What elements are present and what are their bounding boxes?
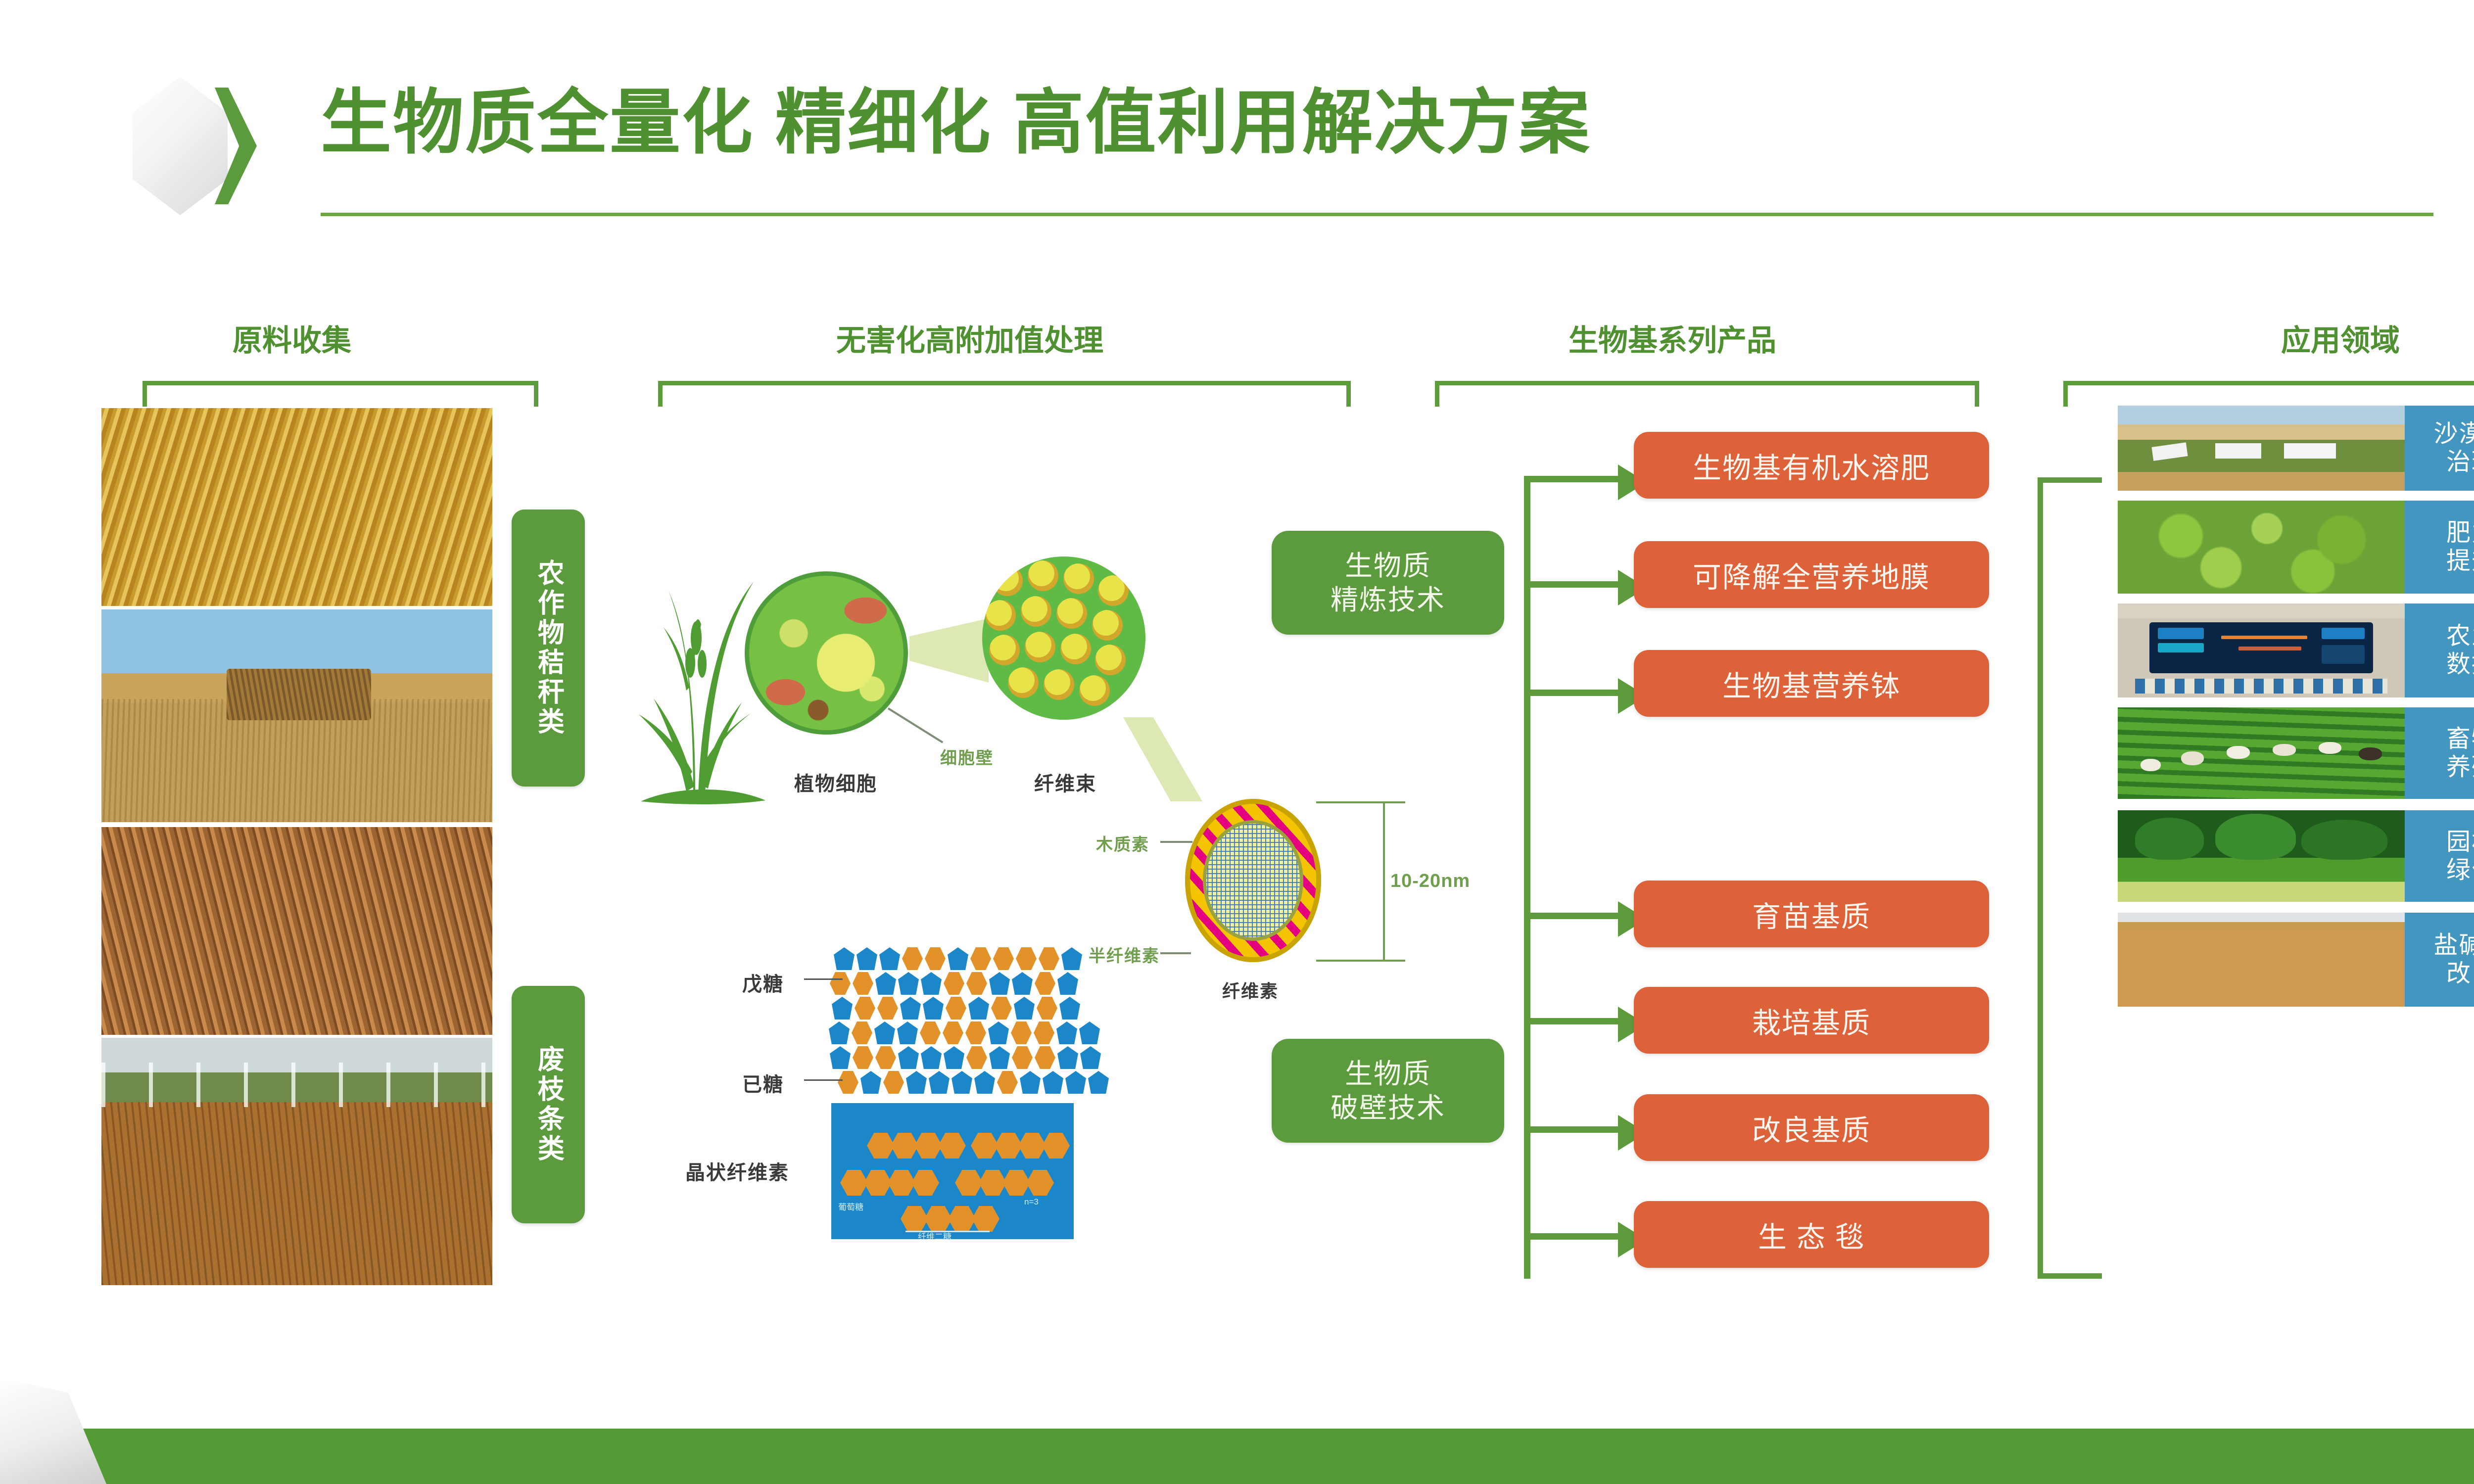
fiber-cross-section-illustration [1185, 799, 1321, 962]
product-label: 可降解全营养地膜 [1693, 554, 1930, 596]
application-label-line2: 数据 [2446, 650, 2474, 679]
label-cellulose: 纤维素 [1222, 977, 1279, 1003]
column-heading-products: 生物基系列产品 [1425, 317, 1920, 360]
label-pentose: 戊糖 [742, 968, 784, 997]
application-label-livestock: 畜牧 养殖 [2405, 707, 2474, 799]
fiber-bundle-illustration [982, 556, 1145, 720]
label-cell-wall: 细胞壁 [940, 744, 994, 769]
orchard-ground-texture [101, 1102, 492, 1285]
application-label-fertility: 肥力 提升 [2405, 501, 2474, 594]
leader-line-cell-wall [888, 707, 943, 743]
product-label: 生物基营养钵 [1722, 663, 1901, 704]
photo-pruned-branches [101, 827, 492, 1035]
zoom-beam-bundle-to-fiber [1123, 717, 1202, 801]
product-pill-seedling-substrate[interactable]: 育苗基质 [1634, 881, 1989, 947]
crystalline-cellulose-panel: 纤维二糖 葡萄糖 n=3 [831, 1103, 1074, 1239]
product-pill-ecological-blanket[interactable]: 生 态 毯 [1634, 1201, 1989, 1268]
photo-sheep-grazing [2118, 707, 2405, 799]
leader-line-lignin [1160, 841, 1192, 843]
application-label-line2: 提升 [2446, 547, 2474, 575]
application-label-line1: 肥力 [2446, 519, 2474, 547]
photo-park-landscaping [2118, 810, 2405, 902]
product-pill-degradable-mulch-film[interactable]: 可降解全营养地膜 [1634, 541, 1989, 608]
orchard-posts [101, 1063, 492, 1107]
dimension-tick-bottom [1316, 960, 1405, 962]
photo-corn-stalk-field [101, 408, 492, 606]
photo-orchard-pruning [101, 1038, 492, 1285]
raw-category-label: 废枝条类 [534, 1045, 563, 1164]
tech-pill-line1: 生物质 [1345, 1057, 1431, 1091]
photo-desertification-control [2118, 406, 2405, 491]
application-label-saline-alkali: 盐碱地 改良 [2405, 913, 2474, 1007]
hay-bale [227, 669, 371, 720]
product-label: 栽培基质 [1752, 1000, 1871, 1041]
photo-cabbage-field [2118, 501, 2405, 594]
application-label-line1: 农业 [2446, 622, 2474, 650]
connector-trunk-refining [1524, 476, 1530, 971]
connector-branch-refining-1 [1524, 476, 1623, 482]
application-label-line1: 盐碱地 [2433, 931, 2474, 960]
raw-category-chip-crop-straw: 农作物秸秆类 [512, 510, 585, 787]
tech-pill-line2: 精炼技术 [1331, 583, 1445, 617]
tech-pill-cell-wall[interactable]: 生物质 破壁技术 [1272, 1039, 1504, 1143]
application-label-line2: 绿化 [2446, 856, 2474, 884]
label-fiber-bundle: 纤维束 [1034, 768, 1096, 796]
connector-branch-refining-3 [1524, 690, 1623, 696]
dimension-tick-top [1316, 801, 1405, 803]
bracket-applications [2063, 381, 2474, 407]
tech-pill-line2: 破壁技术 [1331, 1091, 1445, 1125]
plant-cell-illustration [745, 571, 908, 735]
tech-pill-refining[interactable]: 生物质 精炼技术 [1272, 531, 1504, 635]
product-pill-water-soluble-fertilizer[interactable]: 生物基有机水溶肥 [1634, 432, 1989, 499]
label-crystalline-cellulose: 晶状纤维素 [685, 1157, 789, 1185]
photo-straw-bale-field [101, 609, 492, 822]
bracket-products [1435, 381, 1979, 407]
raw-category-chip-waste-branches: 废枝条类 [512, 986, 585, 1223]
product-pill-nutrient-pot[interactable]: 生物基营养钵 [1634, 650, 1989, 717]
connector-branch-refining-2 [1524, 581, 1623, 588]
hexagon-shape [133, 77, 228, 215]
column-heading-processing: 无害化高附加值处理 [653, 317, 1286, 360]
bracket-raw-material [143, 381, 538, 407]
leader-line-hexose [804, 1079, 843, 1081]
application-label-line1: 沙漠化 [2433, 420, 2474, 448]
dimension-line-vertical [1383, 801, 1385, 962]
application-label-line2: 治理 [2446, 448, 2474, 476]
page-title: 生物质全量化 精细化 高值利用解决方案 [321, 84, 1591, 162]
bracket-left-applications [2038, 477, 2102, 1279]
column-heading-applications: 应用领域 [2142, 317, 2474, 360]
footer-bar [0, 1429, 2474, 1484]
connector-foot-refining [1524, 690, 1530, 696]
sugar-chain-illustration [834, 947, 1200, 1096]
hexagon-chevron-logo [133, 77, 249, 215]
application-label-desertification: 沙漠化 治理 [2405, 406, 2474, 491]
photo-saline-alkali-land [2118, 913, 2405, 1007]
raw-category-label: 农作物秸秆类 [534, 559, 563, 737]
application-label-line1: 畜牧 [2446, 725, 2474, 753]
bracket-processing [658, 381, 1351, 407]
application-label-line1: 园林 [2446, 828, 2474, 856]
photo-agriculture-data-center [2118, 603, 2405, 697]
product-label: 育苗基质 [1752, 893, 1871, 935]
label-lignin: 木质素 [1096, 831, 1149, 855]
column-heading-raw-material: 原料收集 [139, 317, 445, 360]
connector-trunk-cellwall [1524, 913, 1530, 1279]
connector-branch-cellwall-4 [1524, 1233, 1623, 1240]
tech-pill-line1: 生物质 [1345, 549, 1431, 583]
infographic-page: 生物质全量化 精细化 高值利用解决方案 原料收集 无害化高附加值处理 生物基系列… [0, 0, 2474, 1484]
application-label-line2: 改良 [2446, 960, 2474, 988]
product-pill-cultivation-substrate[interactable]: 栽培基质 [1634, 987, 1989, 1054]
application-label-landscaping: 园林 绿化 [2405, 810, 2474, 902]
title-underline-rule [321, 213, 2433, 216]
product-label: 改良基质 [1752, 1107, 1871, 1149]
product-pill-improvement-substrate[interactable]: 改良基质 [1634, 1094, 1989, 1161]
zoom-beam-cell-to-bundle [909, 618, 989, 683]
leader-line-pentose [804, 978, 843, 980]
label-fiber-dimension: 10-20nm [1390, 871, 1470, 892]
connector-branch-cellwall-3 [1524, 1126, 1623, 1133]
connector-branch-cellwall-1 [1524, 913, 1623, 919]
product-label: 生物基有机水溶肥 [1693, 445, 1930, 486]
connector-branch-cellwall-2 [1524, 1018, 1623, 1024]
label-hexose: 已糖 [742, 1068, 784, 1097]
application-label-agriculture-data: 农业 数据 [2405, 603, 2474, 697]
cellulose-core [1203, 820, 1304, 941]
product-label: 生 态 毯 [1758, 1214, 1865, 1255]
application-label-line2: 养殖 [2446, 753, 2474, 782]
label-plant-cell: 植物细胞 [794, 768, 877, 796]
